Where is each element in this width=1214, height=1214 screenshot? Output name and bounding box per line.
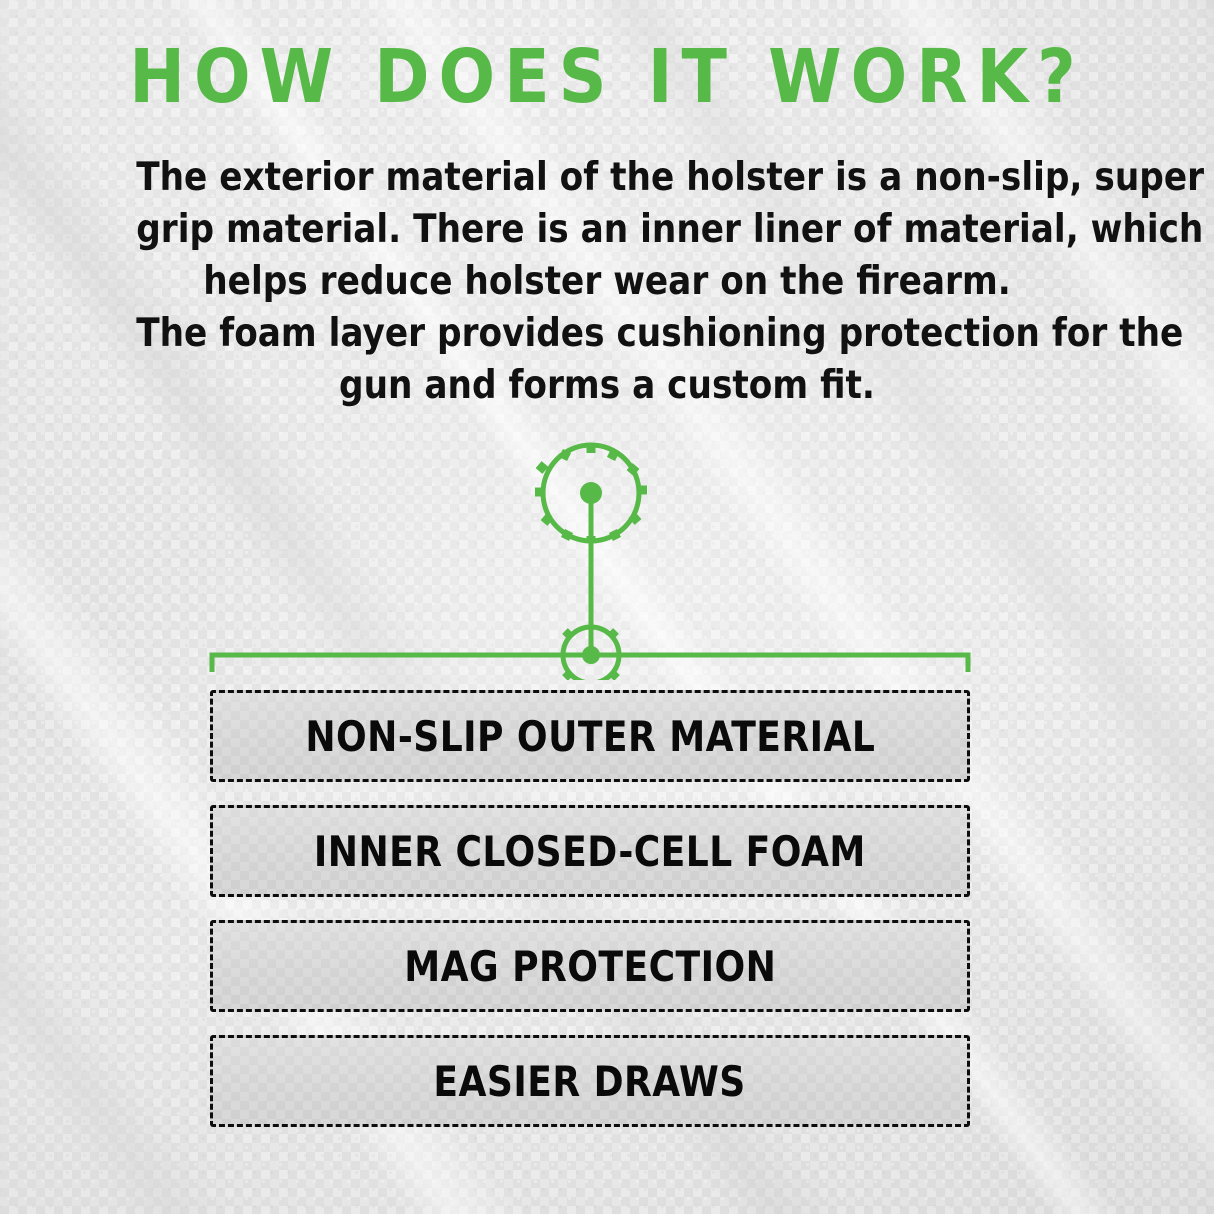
page-title: HOW DOES IT WORK? (61, 40, 1154, 114)
description-line-3: helps reduce holster wear on the firearm… (136, 256, 1078, 308)
description-line-5: gun and forms a custom fit. (136, 360, 1078, 412)
layer-box-easier-draws[interactable]: EASIER DRAWS (210, 1035, 970, 1127)
description-paragraph: The exterior material of the holster is … (136, 152, 1078, 412)
description-line-1: The exterior material of the holster is … (136, 152, 1078, 204)
layer-box-closed-cell-foam[interactable]: INNER CLOSED-CELL FOAM (210, 805, 970, 897)
layer-box-outer-material[interactable]: NON-SLIP OUTER MATERIAL (210, 690, 970, 782)
description-line-2: grip material. There is an inner liner o… (136, 204, 1078, 256)
layer-label: INNER CLOSED-CELL FOAM (314, 827, 866, 876)
layer-label: MAG PROTECTION (404, 942, 776, 991)
layer-label: NON-SLIP OUTER MATERIAL (305, 712, 875, 761)
layer-label: EASIER DRAWS (434, 1057, 746, 1106)
layer-box-mag-protection[interactable]: MAG PROTECTION (210, 920, 970, 1012)
layer-stack: NON-SLIP OUTER MATERIAL INNER CLOSED-CEL… (210, 690, 970, 1150)
description-line-4: The foam layer provides cushioning prote… (136, 308, 1078, 360)
callout-diagram (0, 440, 1214, 680)
infographic-canvas: HOW DOES IT WORK? The exterior material … (0, 0, 1214, 1214)
content-root: HOW DOES IT WORK? The exterior material … (0, 0, 1214, 1214)
